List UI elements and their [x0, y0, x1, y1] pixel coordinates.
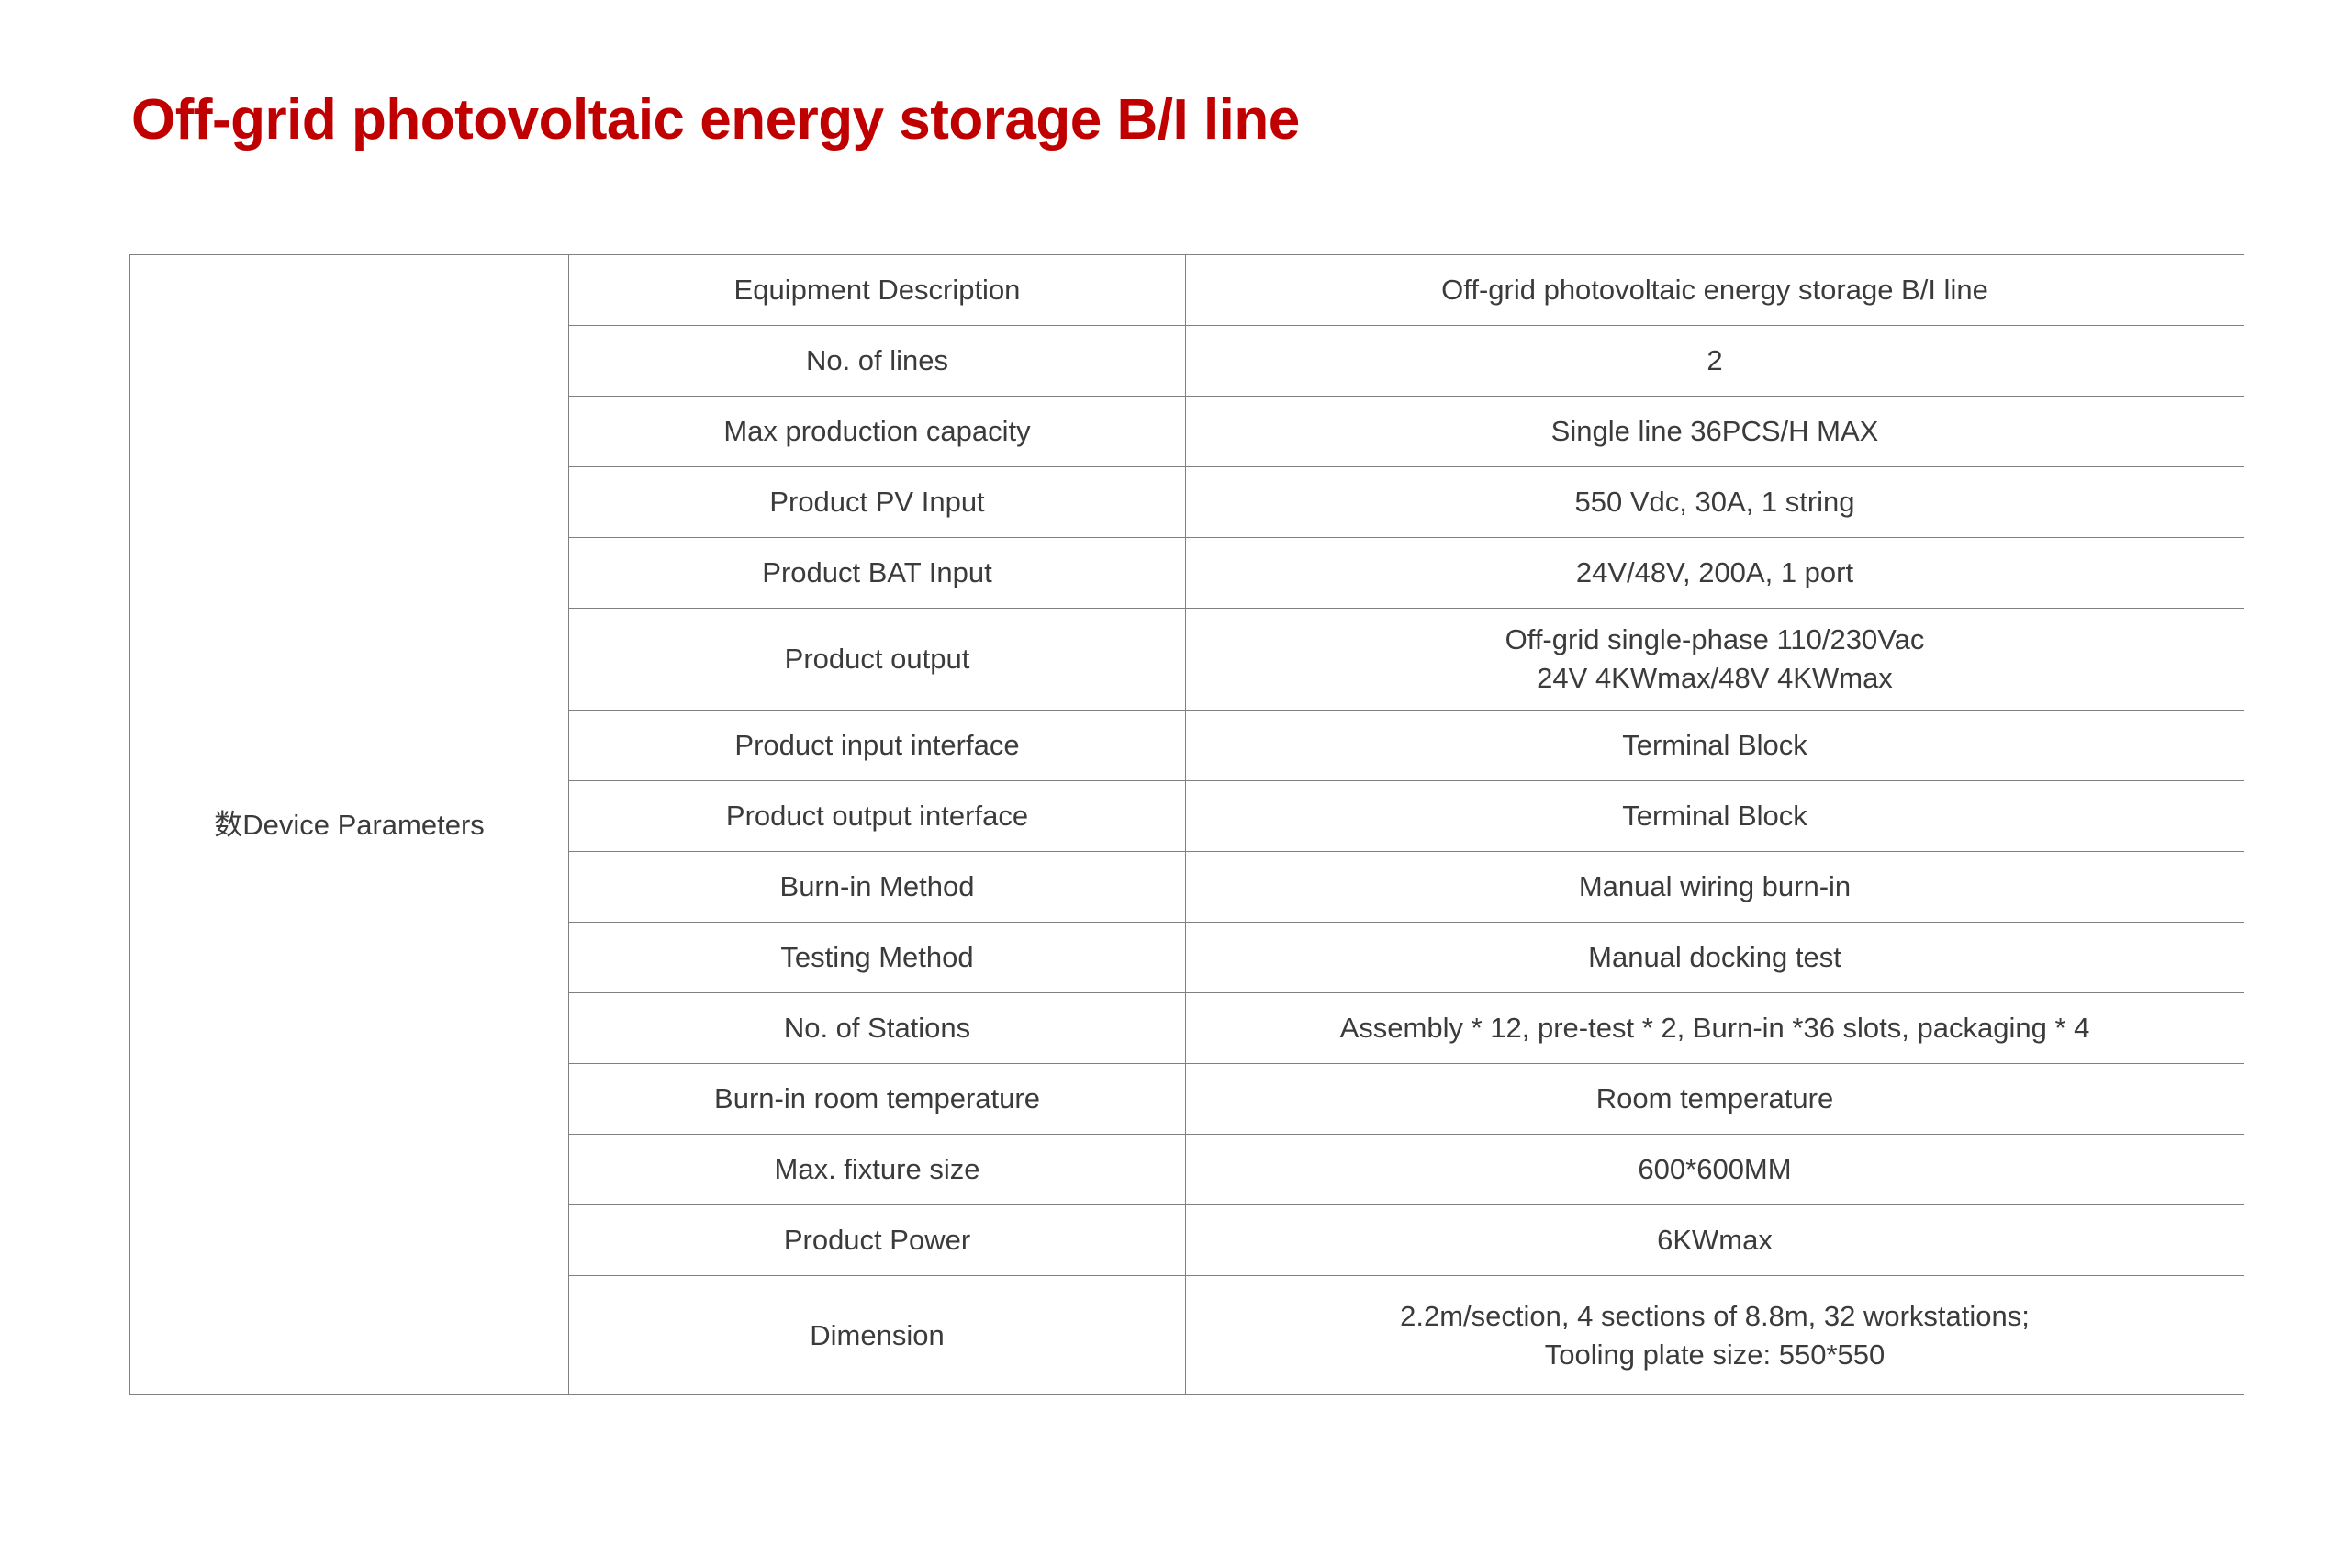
parameter-value-line-2: Tooling plate size: 550*550	[1203, 1336, 2227, 1374]
parameter-value-line: Off-grid photovoltaic energy storage B/I…	[1203, 271, 2227, 309]
slide-root: Off-grid photovoltaic energy storage B/I…	[0, 0, 2350, 1568]
parameter-name-cell: Max production capacity	[569, 397, 1186, 467]
parameter-name-cell: Product output	[569, 609, 1186, 711]
device-parameters-table: 数Device ParametersEquipment DescriptionO…	[129, 254, 2244, 1395]
parameter-value-line: Room temperature	[1203, 1080, 2227, 1118]
parameter-value-cell: Single line 36PCS/H MAX	[1186, 397, 2244, 467]
table-body: 数Device ParametersEquipment DescriptionO…	[130, 255, 2244, 1395]
parameter-value-line: 2	[1203, 342, 2227, 380]
parameter-value-line: Assembly * 12, pre-test * 2, Burn-in *36…	[1203, 1009, 2227, 1047]
parameter-name-cell: Equipment Description	[569, 255, 1186, 326]
parameter-value-line: Off-grid single-phase 110/230Vac	[1203, 621, 2227, 659]
parameter-name-cell: Max. fixture size	[569, 1135, 1186, 1205]
parameter-value-cell: Off-grid single-phase 110/230Vac24V 4KWm…	[1186, 609, 2244, 711]
group-label-cell: 数Device Parameters	[130, 255, 569, 1395]
parameter-value-cell: Room temperature	[1186, 1064, 2244, 1135]
parameter-name-cell: Burn-in Method	[569, 852, 1186, 923]
parameter-name-cell: Product output interface	[569, 781, 1186, 852]
parameter-name-cell: No. of Stations	[569, 993, 1186, 1064]
parameter-name-cell: Testing Method	[569, 923, 1186, 993]
parameter-name-cell: Product Power	[569, 1205, 1186, 1276]
parameter-value-cell: Off-grid photovoltaic energy storage B/I…	[1186, 255, 2244, 326]
parameter-value-cell: 550 Vdc, 30A, 1 string	[1186, 467, 2244, 538]
page-title: Off-grid photovoltaic energy storage B/I…	[131, 92, 1300, 149]
parameter-value-cell: Assembly * 12, pre-test * 2, Burn-in *36…	[1186, 993, 2244, 1064]
parameter-value-cell: 24V/48V, 200A, 1 port	[1186, 538, 2244, 609]
parameter-value-cell: 6KWmax	[1186, 1205, 2244, 1276]
device-parameters-table-container: 数Device ParametersEquipment DescriptionO…	[129, 254, 2244, 1395]
parameter-value-cell: 600*600MM	[1186, 1135, 2244, 1205]
parameter-value-cell: Manual docking test	[1186, 923, 2244, 993]
parameter-value-line-2: 24V 4KWmax/48V 4KWmax	[1203, 659, 2227, 698]
parameter-value-line: 2.2m/section, 4 sections of 8.8m, 32 wor…	[1203, 1297, 2227, 1336]
parameter-value-cell: Terminal Block	[1186, 781, 2244, 852]
parameter-value-line: 24V/48V, 200A, 1 port	[1203, 554, 2227, 592]
table-row: 数Device ParametersEquipment DescriptionO…	[130, 255, 2244, 326]
parameter-name-cell: Product PV Input	[569, 467, 1186, 538]
parameter-value-cell: 2.2m/section, 4 sections of 8.8m, 32 wor…	[1186, 1276, 2244, 1395]
parameter-name-cell: Product input interface	[569, 711, 1186, 781]
parameter-value-cell: Manual wiring burn-in	[1186, 852, 2244, 923]
parameter-value-line: 600*600MM	[1203, 1150, 2227, 1189]
parameter-value-line: 550 Vdc, 30A, 1 string	[1203, 483, 2227, 521]
parameter-value-line: Single line 36PCS/H MAX	[1203, 412, 2227, 451]
parameter-value-line: Terminal Block	[1203, 726, 2227, 765]
parameter-value-line: Manual wiring burn-in	[1203, 868, 2227, 906]
parameter-name-cell: No. of lines	[569, 326, 1186, 397]
parameter-name-cell: Dimension	[569, 1276, 1186, 1395]
parameter-value-line: 6KWmax	[1203, 1221, 2227, 1260]
parameter-name-cell: Burn-in room temperature	[569, 1064, 1186, 1135]
parameter-value-line: Manual docking test	[1203, 938, 2227, 977]
parameter-value-cell: Terminal Block	[1186, 711, 2244, 781]
parameter-name-cell: Product BAT Input	[569, 538, 1186, 609]
parameter-value-line: Terminal Block	[1203, 797, 2227, 835]
parameter-value-cell: 2	[1186, 326, 2244, 397]
